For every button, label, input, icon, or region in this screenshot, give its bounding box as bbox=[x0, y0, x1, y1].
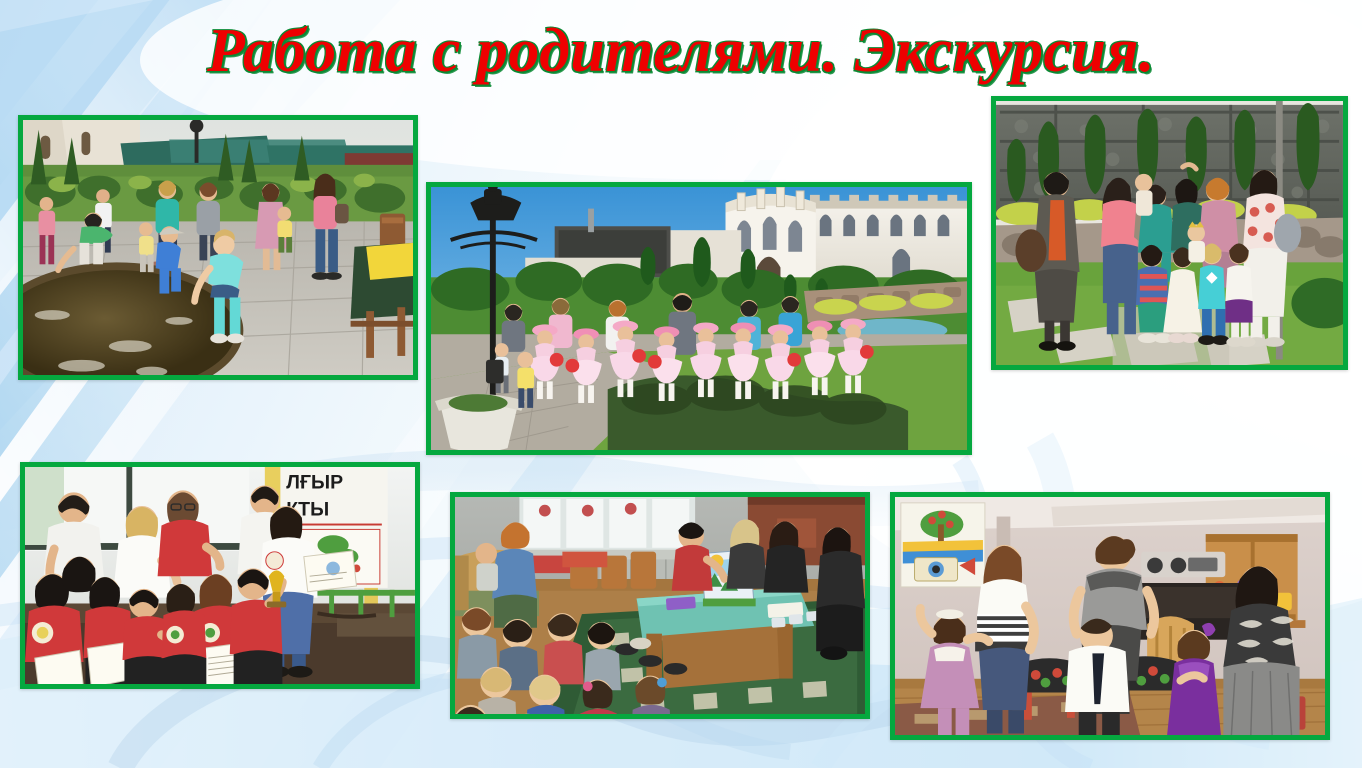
photo-group-castle[interactable] bbox=[426, 182, 972, 455]
photo-park-fountain-image bbox=[23, 120, 413, 378]
photo-group-wall-image bbox=[996, 101, 1343, 367]
photo-group-castle-image bbox=[431, 187, 967, 455]
photo-group-wall[interactable] bbox=[991, 96, 1348, 370]
slide-canvas: Работа с родителями. Экскурсия. bbox=[0, 0, 1362, 768]
photo-award-ceremony[interactable]: ЛҒЫР ҚТЫ bbox=[20, 462, 420, 689]
photo-indoor-parents[interactable] bbox=[890, 492, 1330, 740]
slide-title: Работа с родителями. Экскурсия. bbox=[0, 16, 1362, 87]
photo-award-ceremony-image: ЛҒЫР ҚТЫ bbox=[25, 467, 415, 688]
photo-park-fountain[interactable] bbox=[18, 115, 418, 380]
photo-indoor-parents-image bbox=[895, 497, 1325, 739]
poster-text-line1: ЛҒЫР bbox=[286, 471, 343, 493]
photo-classroom-presentation[interactable] bbox=[450, 492, 870, 719]
photo-classroom-presentation-image bbox=[455, 497, 865, 719]
